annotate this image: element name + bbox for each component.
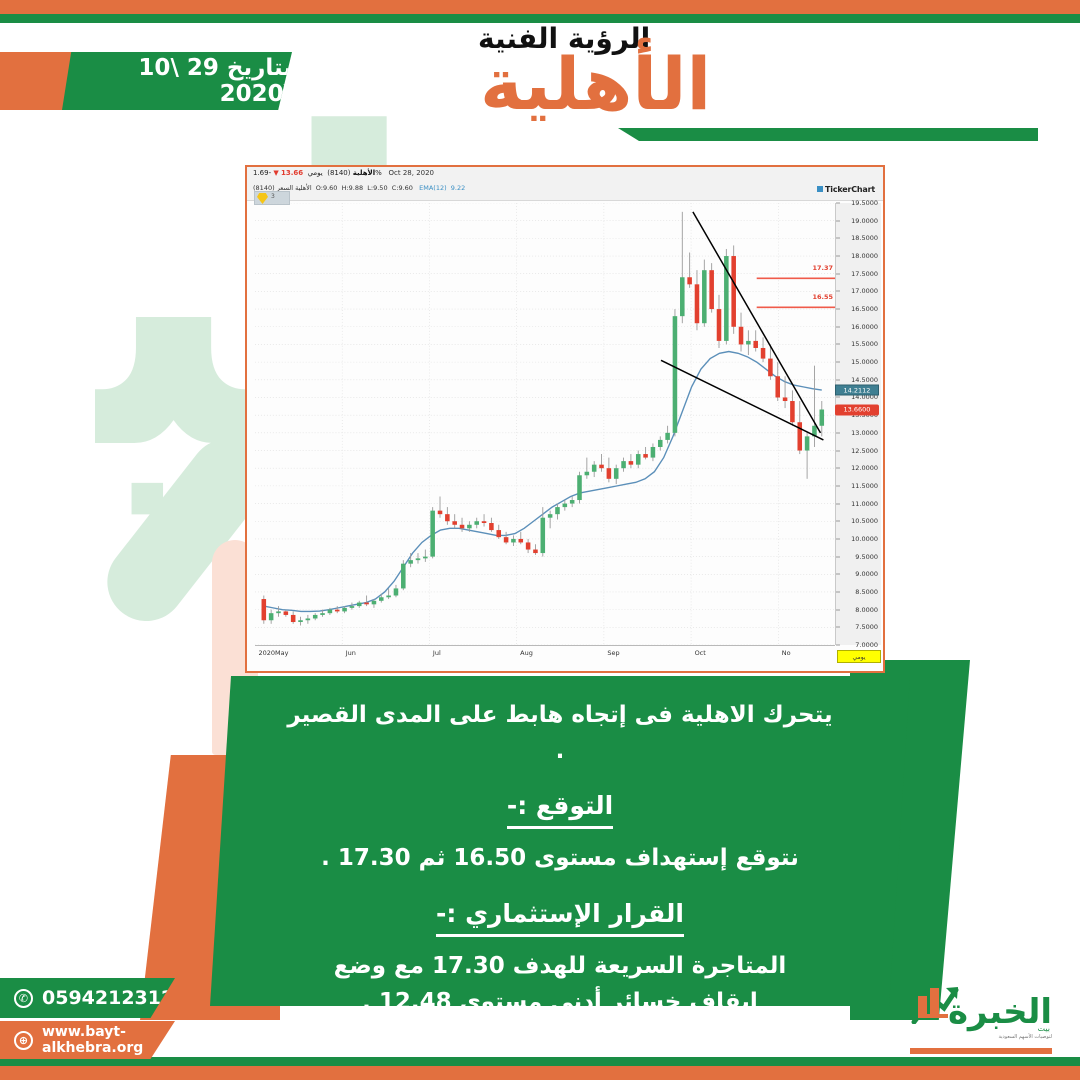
analysis-panel: يتحرك الاهلية فى إتجاه هابط على المدى ال…	[210, 676, 910, 1006]
price-tick	[836, 609, 840, 610]
price-tick	[836, 645, 840, 646]
bottom-green-rail	[0, 1057, 1080, 1066]
whatsapp-icon: ✆	[14, 989, 33, 1008]
forecast-heading: التوقع :-	[507, 791, 613, 829]
chart-header-bar: الأهلية (8140) يومي 13.66 ▼ -1.69% Oct 2…	[247, 167, 883, 201]
poster-canvas: هلية بتاريخ 29 \10 \2020 الرؤية الفنية ا…	[0, 0, 1080, 1080]
price-tick	[836, 627, 840, 628]
price-tick	[836, 432, 840, 433]
price-tick	[836, 291, 840, 292]
level-label-1: 17.37	[812, 264, 833, 272]
chart-low: L:9.50	[367, 184, 387, 192]
legend-swatch-text: 3	[271, 193, 275, 200]
price-tick-label: 9.5000	[855, 553, 878, 561]
chart-last-price: 13.66	[281, 169, 303, 177]
bottom-orange-rail	[0, 1066, 1080, 1080]
chart-date: Oct 28, 2020	[389, 169, 435, 177]
time-tick-label: Jun	[346, 649, 356, 657]
time-tick-label: Jul	[433, 649, 441, 657]
price-tick	[836, 521, 840, 522]
price-tick	[836, 238, 840, 239]
price-tick	[836, 220, 840, 221]
price-tick-label: 7.5000	[855, 623, 878, 631]
price-tick-label: 15.0000	[851, 358, 878, 366]
decision-line-1: المتاجرة السريعة للهدف 17.30 مع وضع	[280, 949, 840, 985]
price-tick-label: 8.0000	[855, 606, 878, 614]
price-tick-label: 12.0000	[851, 464, 878, 472]
decision-heading: القرار الإستثماري :-	[436, 899, 684, 937]
price-tick	[836, 362, 840, 363]
time-tick-label: Oct	[695, 649, 706, 657]
decision-line-2: إيقاف خسائر أدنى مستوى 12.48 .	[280, 985, 840, 1021]
chart-close: C:9.60	[392, 184, 413, 192]
price-tick-label: 16.0000	[851, 323, 878, 331]
ema-price-badge: 14.2112	[835, 385, 879, 396]
tickerchart-logo: TickerChart	[817, 185, 875, 194]
price-tick-label: 19.0000	[851, 217, 878, 225]
interval-corner-badge[interactable]: يومي	[837, 650, 881, 663]
price-tick	[836, 485, 840, 486]
time-tick-label: Aug	[520, 649, 533, 657]
chart-quote-line: الأهلية (8140) يومي 13.66 ▼ -1.69% Oct 2…	[253, 169, 434, 177]
price-tick	[836, 591, 840, 592]
last-price-badge: 13.6600	[835, 404, 879, 415]
price-tick	[836, 450, 840, 451]
forecast-text: نتوقع إستهداف مستوى 16.50 ثم 17.30 .	[280, 841, 840, 877]
price-tick-label: 15.5000	[851, 340, 878, 348]
price-tick	[836, 326, 840, 327]
website-url: www.bayt-alkhebra.org	[42, 1024, 175, 1056]
time-tick-label: 2020May	[258, 649, 288, 657]
price-tick	[836, 273, 840, 274]
price-tick	[836, 397, 840, 398]
price-tick	[836, 574, 840, 575]
price-tick	[836, 503, 840, 504]
price-tick-label: 13.0000	[851, 429, 878, 437]
price-tick-label: 11.0000	[851, 500, 878, 508]
chart-high: H:9.88	[342, 184, 364, 192]
price-tick-label: 16.5000	[851, 305, 878, 313]
price-tick-label: 14.5000	[851, 376, 878, 384]
chart-down-arrow-icon: ▼	[273, 169, 278, 177]
price-tick	[836, 203, 840, 204]
price-tick-label: 18.5000	[851, 234, 878, 242]
tickerchart-label: TickerChart	[825, 185, 875, 194]
chart-ema-value: 9.22	[451, 184, 465, 192]
price-axis: 19.500019.000018.500018.000017.500017.00…	[835, 203, 881, 645]
analysis-intro: يتحرك الاهلية فى إتجاه هابط على المدى ال…	[280, 698, 840, 769]
price-tick-label: 7.0000	[855, 641, 878, 649]
phone-number: 0594212312	[42, 987, 174, 1009]
price-tick	[836, 309, 840, 310]
candlestick-svg	[255, 203, 835, 645]
level-label-2: 16.55	[812, 293, 833, 301]
price-tick-label: 9.0000	[855, 570, 878, 578]
brand-tagline: لتوصيات الأسهم السعودية	[998, 1034, 1052, 1040]
chart-ema-label: EMA(12)	[419, 184, 447, 192]
globe-icon: ⊕	[14, 1031, 33, 1050]
price-tick-label: 17.0000	[851, 287, 878, 295]
page-title: الأهلية	[480, 48, 1040, 120]
price-tick-label: 12.5000	[851, 447, 878, 455]
price-tick	[836, 468, 840, 469]
price-tick-label: 17.5000	[851, 270, 878, 278]
price-tick	[836, 538, 840, 539]
chart-symbol-code: (8140)	[327, 169, 350, 177]
price-tick-label: 19.5000	[851, 199, 878, 207]
title-underline	[618, 128, 1038, 141]
price-tick-label: 10.5000	[851, 517, 878, 525]
chart-symbol-name: الأهلية	[353, 169, 375, 177]
price-tick	[836, 344, 840, 345]
time-tick-label: No	[782, 649, 791, 657]
brand-underline	[910, 1048, 1052, 1054]
price-tick	[836, 556, 840, 557]
price-tick	[836, 256, 840, 257]
time-tick-label: Sep	[607, 649, 619, 657]
time-axis: 2020MayJunJulAugSepOctNo	[255, 645, 835, 663]
price-tick-label: 18.0000	[851, 252, 878, 260]
brand-logo: بيت الخبرة لتوصيات الأسهم السعودية	[902, 978, 1052, 1056]
chart-panel: الأهلية (8140) يومي 13.66 ▼ -1.69% Oct 2…	[245, 165, 885, 673]
price-tick-label: 11.5000	[851, 482, 878, 490]
chart-interval: يومي	[308, 169, 323, 177]
top-orange-rail	[0, 0, 1080, 14]
brand-name: الخبرة	[948, 992, 1052, 1032]
contact-phone[interactable]: ✆ 0594212312	[0, 978, 175, 1018]
contact-website[interactable]: ⊕ www.bayt-alkhebra.org	[0, 1021, 175, 1059]
chart-plot-area: 17.3716.55	[255, 203, 835, 645]
price-tick-label: 10.0000	[851, 535, 878, 543]
price-tick-label: 8.5000	[855, 588, 878, 596]
price-tick	[836, 379, 840, 380]
chart-open: O:9.60	[316, 184, 338, 192]
date-badge: بتاريخ 29 \10 \2020	[62, 52, 292, 110]
tickerchart-mark-icon	[817, 186, 823, 192]
